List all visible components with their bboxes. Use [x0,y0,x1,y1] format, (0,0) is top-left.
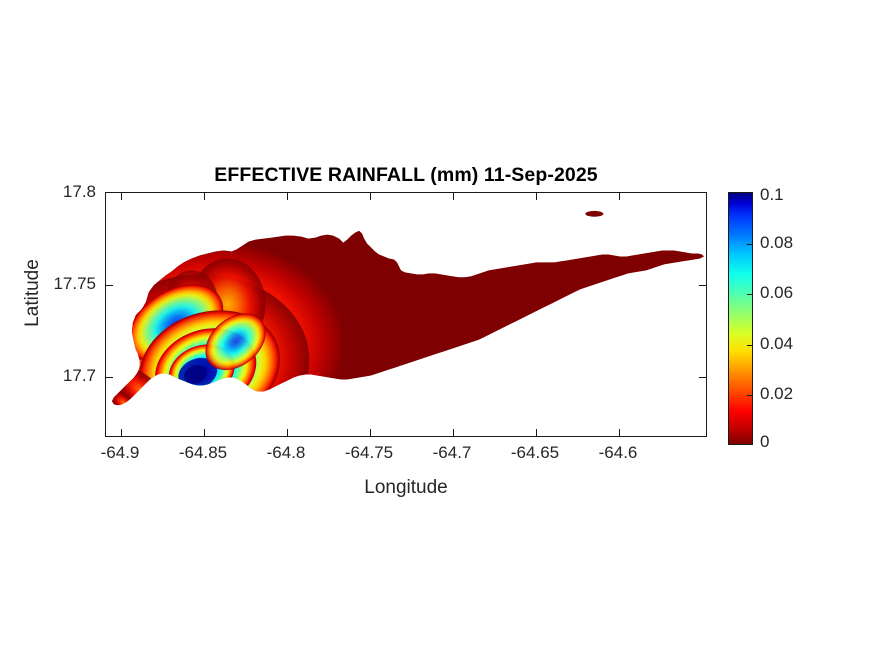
x-tick-mark [619,429,620,436]
y-tick-label: 17.8 [63,182,96,202]
colorbar-tick-label: 0.04 [760,334,793,354]
x-tick-label: -64.8 [267,443,306,463]
colorbar-tick-label: 0.08 [760,233,793,253]
x-tick-label: -64.85 [179,443,227,463]
x-tick-mark-top [287,193,288,200]
colorbar-tick [747,294,752,295]
x-tick-label: -64.9 [101,443,140,463]
rainfall-heatmap [106,193,706,436]
y-tick-label-group: 17.8 17.75 17.7 [0,0,96,656]
page-title: EFFECTIVE RAINFALL (mm) 11-Sep-2025 [105,164,707,187]
x-tick-mark-top [619,193,620,200]
x-tick-mark [204,429,205,436]
colorbar-tick-label: 0.1 [760,185,784,205]
x-tick-mark-top [121,193,122,200]
y-tick-label: 17.7 [63,366,96,386]
colorbar-tick [747,244,752,245]
x-tick-label: -64.6 [599,443,638,463]
y-tick-mark [106,377,113,378]
x-axis-label: Longitude [105,477,707,499]
y-tick-mark-right [699,285,706,286]
x-tick-mark-top [453,193,454,200]
colorbar-tick-label: 0.06 [760,283,793,303]
colorbar-gradient [729,193,752,444]
colorbar-tick [747,345,752,346]
colorbar-tick-label: 0 [760,432,769,452]
map-axes[interactable] [105,192,707,437]
x-tick-mark-top [204,193,205,200]
y-tick-label: 17.75 [53,274,96,294]
x-tick-mark [453,429,454,436]
colorbar-tick-label: 0.02 [760,384,793,404]
figure-canvas: EFFECTIVE RAINFALL (mm) 11-Sep-2025 17.8… [0,0,875,656]
x-tick-mark [287,429,288,436]
x-tick-mark-top [536,193,537,200]
x-tick-label: -64.75 [345,443,393,463]
offshore-islet [585,211,603,217]
x-tick-mark [536,429,537,436]
colorbar[interactable] [728,192,753,445]
y-axis-label: Latitude [22,233,44,353]
x-tick-label: -64.7 [433,443,472,463]
x-tick-mark [370,429,371,436]
y-tick-mark-right [699,377,706,378]
x-tick-label: -64.65 [511,443,559,463]
y-tick-mark [106,285,113,286]
colorbar-tick [747,395,752,396]
x-tick-mark-top [370,193,371,200]
x-tick-mark [121,429,122,436]
